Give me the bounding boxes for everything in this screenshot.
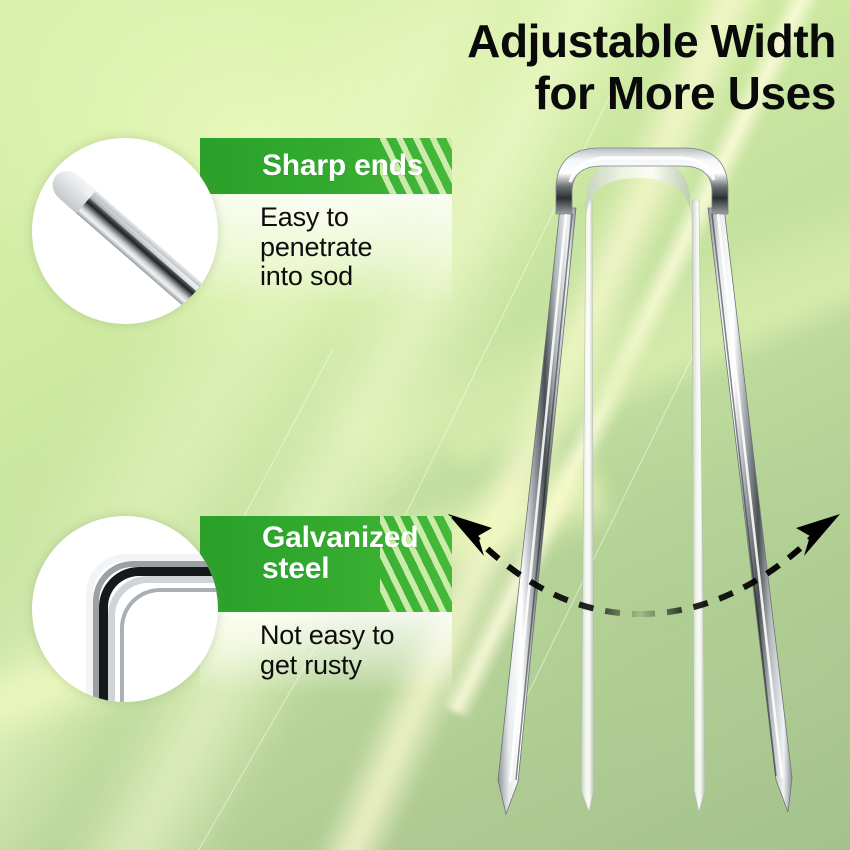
feature-caption: Not easy to get rusty (200, 612, 452, 694)
feature-panel: Galvanized steel Not easy to get rusty (200, 516, 452, 694)
feature-caption-line-2: get rusty (260, 651, 452, 681)
pin-tip-closeup-icon (32, 138, 218, 324)
product-feature-graphic: Adjustable Width for More Uses (0, 0, 850, 850)
bend-illustration (62, 538, 218, 702)
feature-title: Sharp ends (200, 150, 423, 181)
feature-title-line-1: Galvanized (262, 522, 418, 553)
arc-dashed-right (640, 532, 818, 614)
feature-banner: Galvanized steel (200, 516, 452, 612)
feature-title-line-2: steel (262, 553, 418, 584)
feature-title: Galvanized steel (200, 516, 418, 584)
bent-corner-closeup-icon (32, 516, 218, 702)
feature-inset-circle-sharp-ends (32, 138, 218, 324)
feature-caption-line-2: into sod (260, 262, 452, 292)
arrowhead-right-icon (796, 514, 840, 556)
bend-band (120, 588, 218, 702)
pin-shaft (66, 181, 218, 324)
feature-caption-line-1: Not easy to (260, 621, 452, 651)
arc-dashed-left (468, 530, 640, 614)
adjustable-width-arrow (0, 0, 850, 850)
feature-caption: Easy to penetrate into sod (200, 194, 452, 306)
arrowhead-left-icon (448, 514, 492, 556)
feature-panel: Sharp ends Easy to penetrate into sod (200, 138, 452, 306)
feature-inset-circle-galvanized-steel (32, 516, 218, 702)
pin-illustration (37, 158, 218, 324)
feature-caption-line-1: Easy to penetrate (260, 203, 452, 262)
feature-banner: Sharp ends (200, 138, 452, 194)
